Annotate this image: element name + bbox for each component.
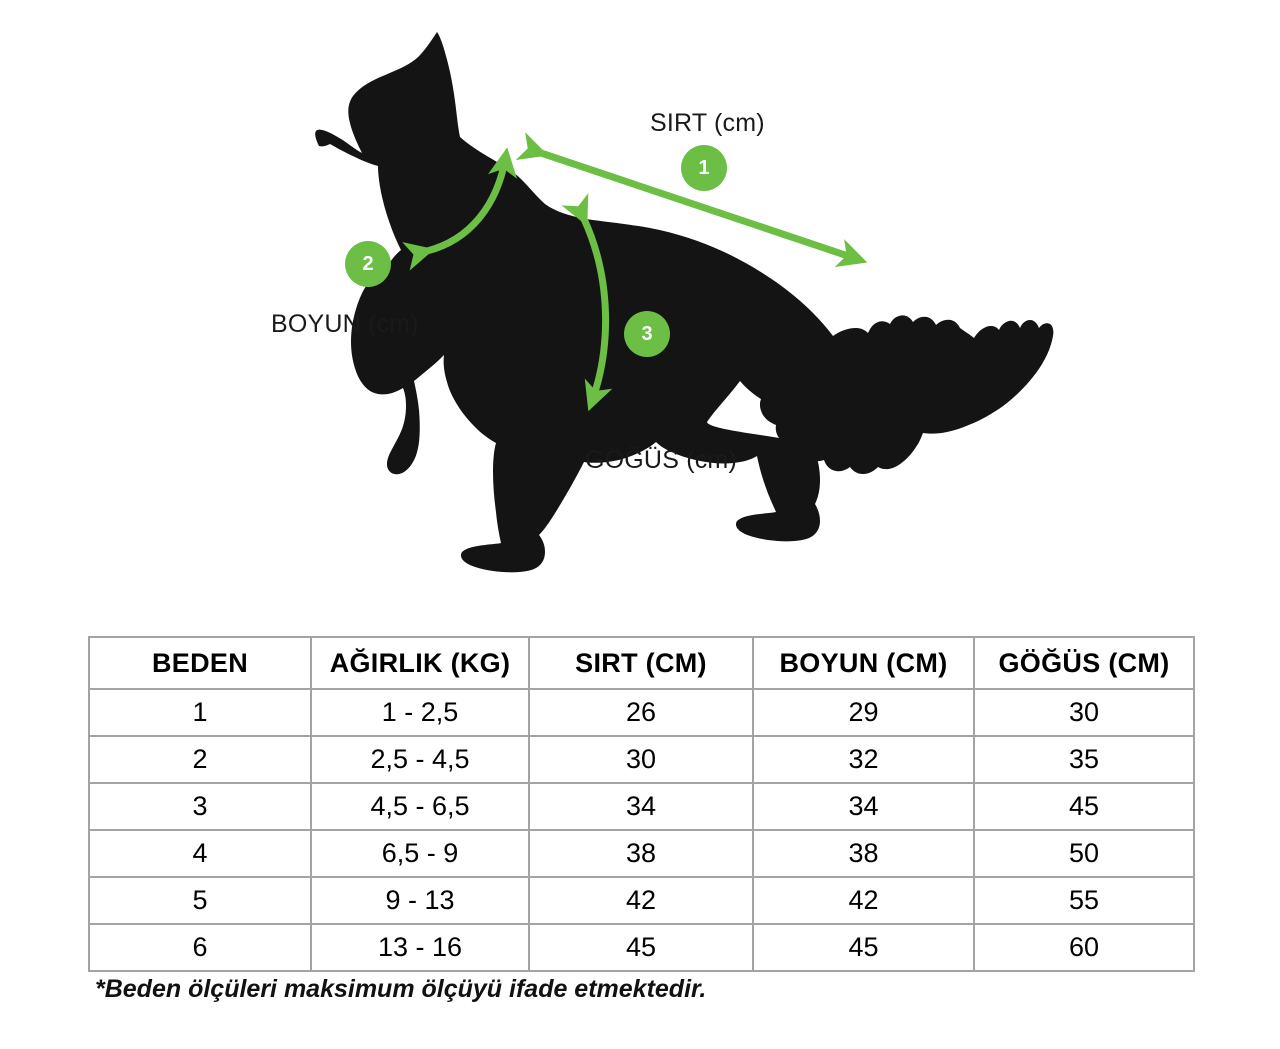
dog-measurement-illustration: SIRT (cm) BOYUN (cm) GÖĞÜS (cm) 1 2 3 [0,0,1280,615]
measurement-badge-3: 3 [624,311,670,357]
table-header-row: BEDEN AĞIRLIK (KG) SIRT (CM) BOYUN (CM) … [89,637,1194,689]
measurement-label-sirt: SIRT (cm) [650,109,765,138]
column-header-beden: BEDEN [89,637,311,689]
measurement-label-gogus: GÖĞÜS (cm) [585,446,737,475]
table-row: 6 13 - 16 45 45 60 [89,924,1194,971]
cell-sirt: 30 [529,736,753,783]
table-row: 1 1 - 2,5 26 29 30 [89,689,1194,736]
cell-agirlik: 13 - 16 [311,924,529,971]
cell-boyun: 42 [753,877,974,924]
cell-beden: 4 [89,830,311,877]
cell-beden: 3 [89,783,311,830]
cell-boyun: 38 [753,830,974,877]
dog-silhouette-svg [0,0,1280,615]
cell-gogus: 30 [974,689,1194,736]
cell-gogus: 45 [974,783,1194,830]
cell-sirt: 45 [529,924,753,971]
cell-beden: 5 [89,877,311,924]
cell-gogus: 35 [974,736,1194,783]
cell-boyun: 34 [753,783,974,830]
size-chart-container: BEDEN AĞIRLIK (KG) SIRT (CM) BOYUN (CM) … [88,636,1193,972]
cell-agirlik: 4,5 - 6,5 [311,783,529,830]
measurement-label-boyun: BOYUN (cm) [271,310,419,339]
cell-beden: 2 [89,736,311,783]
column-header-gogus: GÖĞÜS (CM) [974,637,1194,689]
table-row: 2 2,5 - 4,5 30 32 35 [89,736,1194,783]
cell-gogus: 50 [974,830,1194,877]
column-header-boyun: BOYUN (CM) [753,637,974,689]
table-row: 3 4,5 - 6,5 34 34 45 [89,783,1194,830]
cell-sirt: 34 [529,783,753,830]
measurement-badge-1: 1 [681,145,727,191]
column-header-sirt: SIRT (CM) [529,637,753,689]
cell-gogus: 55 [974,877,1194,924]
cell-agirlik: 1 - 2,5 [311,689,529,736]
measurement-badge-2: 2 [345,241,391,287]
cell-sirt: 38 [529,830,753,877]
table-footnote: *Beden ölçüleri maksimum ölçüyü ifade et… [95,975,706,1004]
cell-agirlik: 9 - 13 [311,877,529,924]
size-chart-table: BEDEN AĞIRLIK (KG) SIRT (CM) BOYUN (CM) … [88,636,1195,972]
cell-beden: 6 [89,924,311,971]
table-row: 5 9 - 13 42 42 55 [89,877,1194,924]
cell-sirt: 42 [529,877,753,924]
cell-boyun: 45 [753,924,974,971]
cell-boyun: 29 [753,689,974,736]
cell-agirlik: 2,5 - 4,5 [311,736,529,783]
cell-agirlik: 6,5 - 9 [311,830,529,877]
column-header-agirlik: AĞIRLIK (KG) [311,637,529,689]
cell-boyun: 32 [753,736,974,783]
cell-sirt: 26 [529,689,753,736]
cell-beden: 1 [89,689,311,736]
table-row: 4 6,5 - 9 38 38 50 [89,830,1194,877]
cell-gogus: 60 [974,924,1194,971]
